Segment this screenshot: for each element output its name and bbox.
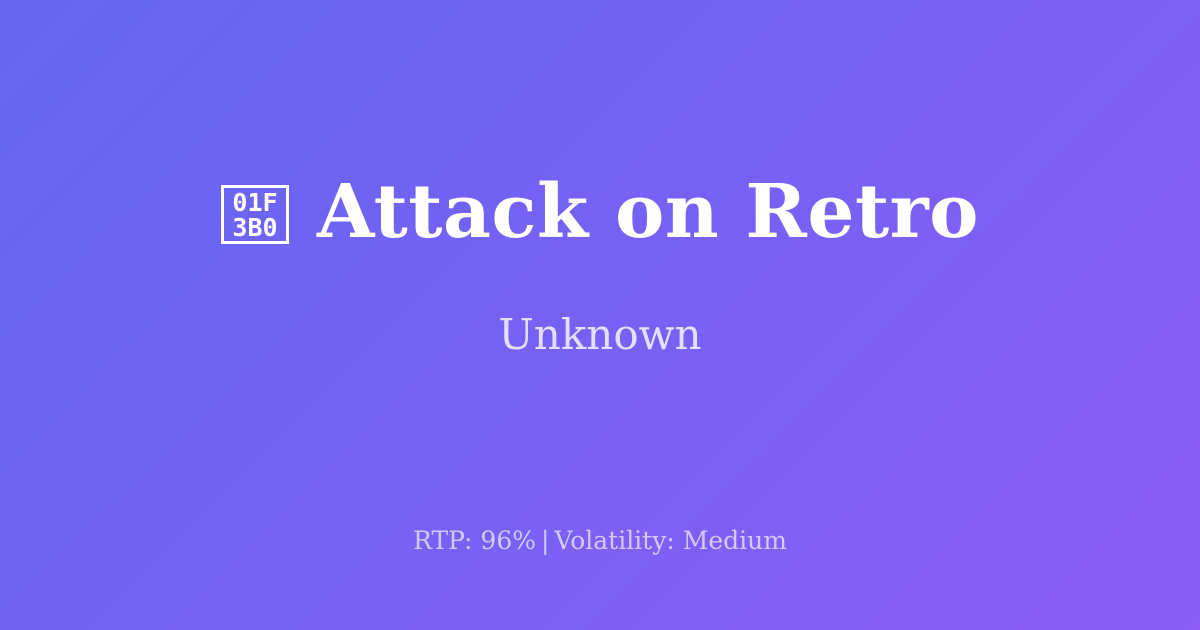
title-section: 01F 3B0 Attack on Retro Unknown xyxy=(0,0,1200,478)
volatility-label: Volatility: Medium xyxy=(554,526,786,555)
rtp-label: RTP: 96% xyxy=(413,526,536,555)
footer-meta: RTP: 96%|Volatility: Medium xyxy=(0,524,1200,558)
tofu-codepoint-bottom: 3B0 xyxy=(232,215,277,240)
og-share-card: 01F 3B0 Attack on Retro Unknown RTP: 96%… xyxy=(0,0,1200,630)
headline: 01F 3B0 Attack on Retro xyxy=(221,174,979,252)
tofu-codepoint-top: 01F xyxy=(232,190,277,215)
page-title: Attack on Retro xyxy=(317,174,979,252)
title-block: 01F 3B0 Attack on Retro Unknown xyxy=(0,174,1200,360)
page-subtitle: Unknown xyxy=(498,310,701,360)
slot-machine-emoji-icon: 01F 3B0 xyxy=(221,185,289,244)
meta-separator: | xyxy=(536,526,554,555)
